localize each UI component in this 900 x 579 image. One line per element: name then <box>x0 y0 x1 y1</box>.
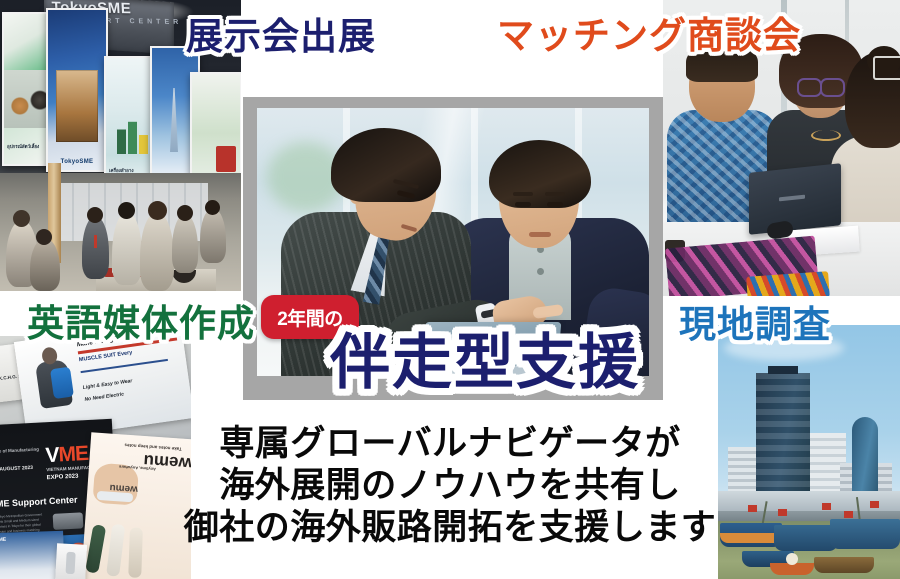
label-english-media: 英語媒体作成 <box>27 305 255 342</box>
duration-badge-label: 2年間の <box>277 304 343 331</box>
shirt-button <box>537 268 544 275</box>
tagline-line-3: 御社の海外販路開拓を支援します <box>0 507 900 549</box>
label-exhibition: 展示会出展 <box>186 18 376 55</box>
booth-visitor <box>82 217 109 279</box>
main-headline: 伴走型支援 <box>330 333 640 393</box>
exoskeleton-pack <box>50 367 74 399</box>
fishing-boat <box>814 557 874 573</box>
tagline-block: 専属グローバルナビゲータが 海外展開のノウハウを共有し 御社の海外販路開拓を支援… <box>0 423 900 549</box>
lanyard-icon <box>94 235 97 248</box>
poster-canvas: TokyoSME SUPPORT CENTER อุปกรณ์สัตว์เลี้… <box>0 0 900 579</box>
tagline-line-1: 専属グローバルナビゲータが <box>0 423 900 465</box>
left-man-hair <box>331 128 441 202</box>
musclesuit-feature-2: No Need Electric <box>84 391 124 402</box>
booth-visitor <box>200 209 226 263</box>
tower-roof <box>768 366 798 374</box>
right-man-eye <box>547 202 563 207</box>
right-man-eyebrow <box>513 192 533 196</box>
right-man-hair <box>489 140 591 208</box>
booth-banner-tower-image <box>170 88 178 152</box>
booth-banner-building-image <box>56 70 98 142</box>
label-matching: マッチング商談会 <box>497 17 801 54</box>
booth-banner-bottles-image <box>115 114 149 154</box>
booth-banner-city: TokyoSME <box>46 8 108 172</box>
right-man-mouth <box>529 232 551 237</box>
booth-visitor <box>30 239 60 291</box>
tagline-line-2: 海外展開のノウハウを共有し <box>0 465 900 507</box>
musclesuit-feature-1: Light & Easy to Wear <box>82 378 132 391</box>
participant-necklace <box>811 130 841 141</box>
booth-banner-misc <box>190 72 241 184</box>
eyeglasses-icon <box>820 78 845 97</box>
booth-visitor <box>140 213 174 291</box>
booth-visitor <box>112 213 142 285</box>
eyeglasses-icon <box>797 78 822 97</box>
small-dinghy <box>770 563 814 575</box>
label-local-research: 現地調査 <box>679 306 831 343</box>
right-man-eye <box>515 202 531 207</box>
booth-banner-redbox <box>216 146 236 172</box>
hair-clip-icon <box>873 56 900 80</box>
booth-visitor <box>172 215 198 273</box>
right-man-eyebrow <box>545 192 565 196</box>
musclesuit-wearer-image <box>29 345 78 420</box>
